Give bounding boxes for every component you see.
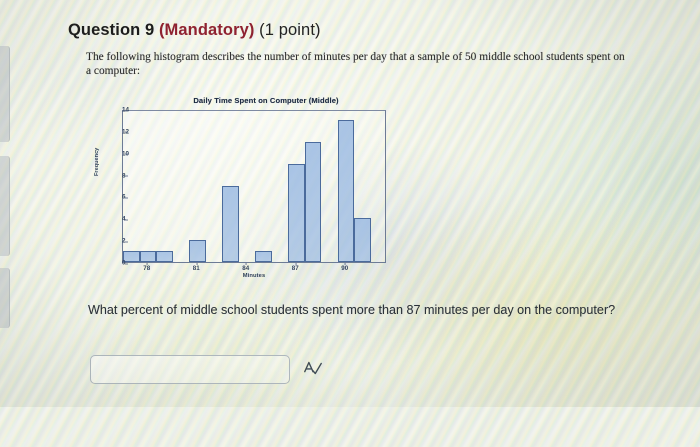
- y-tick-label: 2: [122, 238, 125, 245]
- x-tick-label: 78: [143, 265, 150, 272]
- x-axis-label: Minutes: [122, 273, 386, 279]
- y-tick-label: 8: [122, 172, 125, 179]
- question-prompt: The following histogram describes the nu…: [86, 50, 631, 79]
- spellcheck-icon[interactable]: [302, 357, 324, 379]
- y-axis-label: Frequency: [94, 148, 100, 176]
- histogram-bar: [288, 164, 305, 262]
- histogram-bar: [156, 251, 173, 262]
- question-text: What percent of middle school students s…: [88, 300, 633, 320]
- mandatory-badge: (Mandatory): [159, 21, 255, 39]
- histogram-bar: [338, 120, 355, 262]
- histogram-bar: [305, 142, 322, 262]
- x-tick-label: 81: [193, 265, 200, 272]
- answer-input-box[interactable]: [90, 355, 290, 384]
- y-tick-label: 12: [122, 128, 125, 135]
- y-tick-label: 10: [122, 150, 125, 157]
- chart-title: Daily Time Spent on Computer (Middle): [141, 96, 391, 105]
- histogram-bar: [189, 240, 206, 262]
- question-heading: Question 9 (Mandatory) (1 point): [68, 21, 321, 40]
- histogram-bars: [123, 111, 385, 262]
- question-points: (1 point): [259, 21, 320, 39]
- y-tick-label: 6: [122, 194, 125, 201]
- histogram-chart: Daily Time Spent on Computer (Middle) 02…: [96, 96, 396, 276]
- y-tick-label: 0: [122, 260, 125, 267]
- plot-area: [122, 110, 386, 263]
- answer-input[interactable]: [91, 356, 289, 383]
- histogram-bar: [222, 186, 239, 263]
- histogram-bar: [140, 251, 157, 262]
- y-tick-label: 14: [122, 107, 125, 114]
- y-tick-label: 4: [122, 216, 125, 223]
- x-tick-label: 90: [341, 265, 348, 272]
- histogram-bar: [255, 251, 272, 262]
- x-tick-label: 87: [292, 265, 299, 272]
- x-tick-label: 84: [242, 265, 249, 272]
- histogram-bar: [354, 218, 371, 262]
- question-number: Question 9: [68, 21, 154, 39]
